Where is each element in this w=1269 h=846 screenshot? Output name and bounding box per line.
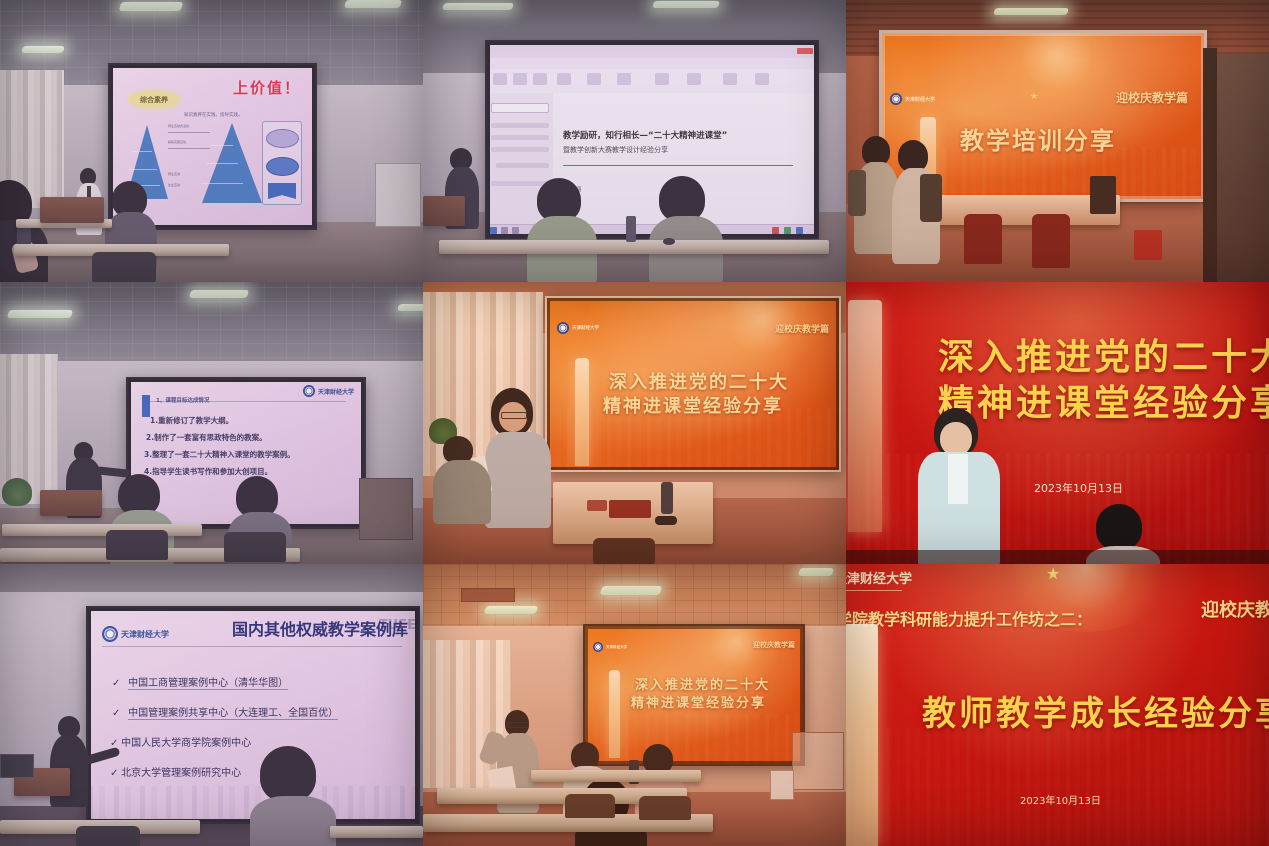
university-name: 天津财经大学: [121, 629, 169, 640]
equipment-cabinet: [1090, 176, 1116, 214]
slide-watermark: TUFE: [379, 618, 416, 633]
header-rule: [102, 646, 402, 647]
glasses-icon: [507, 722, 529, 728]
projection-screen: 天津财经大学 国内其他权威教学案例库 TUFE ✓ 中国工商管理案例中心（清华华…: [86, 606, 420, 824]
section-marker: [142, 395, 150, 417]
backpack: [848, 170, 866, 216]
backpack: [920, 174, 942, 222]
chair: [639, 796, 691, 820]
photo-collage: 上价值！ 综合素养 知识素养在实践，指导实践。 师生互动式活动 模拟实践互动 师…: [0, 0, 1269, 846]
slide-list-item: ✓ 北京大学管理案例研究中心: [110, 764, 241, 779]
front-desk: [330, 826, 423, 838]
ribbon-button[interactable]: [617, 73, 631, 85]
chair: [565, 794, 615, 818]
ceiling-lamp: [119, 2, 184, 11]
university-name: 天津财经大学: [905, 96, 935, 103]
ceiling-lamp: [484, 606, 538, 614]
banner-corner-label: 迎校庆教学篇: [753, 640, 795, 650]
taskbar-icon[interactable]: [796, 227, 803, 234]
thermos-bottle: [626, 216, 636, 242]
remote-control: [655, 516, 677, 525]
ceiling-lamp: [798, 568, 834, 576]
section-number: 1、: [156, 398, 165, 404]
photo-speaker-with-led-wall: 天津财经大学 迎校庆教学篇 深入推进党的二十大 精神进课堂经验分享: [423, 282, 846, 564]
led-display: ★ 天津财经大学 迎校庆教 经济学院教学科研能力提升工作坊之二： 教师教学成长经…: [846, 564, 1269, 846]
photo-document-presentation: 教学励研，知行相长—“二十大精神进课堂” 暨教学创新大赛教学设计经验分享 王修丽…: [423, 0, 846, 282]
university-logo: 天津财经大学: [593, 642, 627, 652]
office-chair: [1032, 214, 1070, 268]
collage-panel-top-center[interactable]: 教学励研，知行相长—“二十大精神进课堂” 暨教学创新大赛教学设计经验分享 王修丽…: [423, 0, 846, 282]
audience-desk: [2, 524, 202, 536]
banner-title-line1: 深入推进党的二十大: [609, 368, 789, 394]
collage-panel-bottom-left[interactable]: 天津财经大学 国内其他权威教学案例库 TUFE ✓ 中国工商管理案例中心（清华华…: [0, 564, 423, 846]
university-logo: 天津财经大学: [303, 385, 354, 397]
ribbon-button[interactable]: [533, 73, 547, 85]
slide-title: 上价值！: [233, 77, 301, 98]
list-item-label: 中国人民大学商学院案例中心: [121, 738, 251, 749]
ceiling-lamp: [600, 586, 663, 595]
table-edge: [846, 550, 1269, 564]
university-seal-icon: [303, 385, 315, 397]
photo-red-banner-closeup: 深入推进党的二十大 精神进课堂经验分享 2023年10月13日: [846, 282, 1269, 564]
list-item-label: 中国管理案例共享中心（大连理工、全国百优）: [128, 708, 338, 720]
university-seal-icon: [890, 93, 902, 105]
logo-rule: [846, 590, 902, 591]
decorative-starburst: [697, 296, 827, 374]
ribbon-button[interactable]: [493, 73, 507, 85]
app-tabbar: [487, 42, 817, 59]
ceiling-lamp: [442, 3, 514, 10]
collage-panel-top-left[interactable]: 上价值！ 综合素养 知识素养在实践，指导实践。 师生互动式活动 模拟实践互动 师…: [0, 0, 423, 282]
ribbon-button[interactable]: [655, 73, 669, 85]
university-seal-icon: [102, 626, 118, 642]
wall-whiteboard: [375, 163, 421, 227]
star-icon: ★: [1030, 91, 1038, 102]
banner-title-line1: 深入推进党的二十大: [938, 328, 1269, 380]
skyline-graphic: [846, 728, 1269, 846]
slide-bullet: 3.整理了一套二十大精神入课堂的教学案例。: [144, 449, 295, 460]
document-title: 教学励研，知行相长—“二十大精神进课堂”: [563, 129, 727, 141]
notebook: [609, 500, 651, 518]
taskbar-icon[interactable]: [784, 227, 791, 234]
chair: [106, 530, 168, 560]
diagram-label: 师生互动式活动: [168, 125, 189, 129]
section-title: 课程目标达成情况: [165, 398, 209, 404]
ribbon-button[interactable]: [557, 73, 571, 85]
display-cabinet: [792, 732, 844, 790]
led-display: 深入推进党的二十大 精神进课堂经验分享 2023年10月13日: [846, 282, 1269, 564]
ceiling-lamp: [397, 304, 423, 311]
decorative-starburst: [992, 30, 1122, 111]
ceiling-lamp: [7, 310, 73, 318]
torso: [250, 796, 336, 846]
chair: [76, 826, 140, 846]
ceiling-lamp: [21, 46, 65, 53]
chair: [92, 252, 156, 282]
slide-caption: 知识素养在实践，指导实践。: [184, 113, 243, 119]
banner-title-line1: 深入推进党的二十大: [635, 674, 770, 693]
photo-classroom-presentation: 上价值！ 综合素养 知识素养在实践，指导实践。 师生互动式活动 模拟实践互动 师…: [0, 0, 423, 282]
potted-plant: [2, 478, 32, 506]
star-icon: ★: [1046, 564, 1060, 584]
ribbon-toolbar[interactable]: [487, 69, 817, 93]
podium: [40, 490, 102, 516]
phone: [587, 500, 607, 511]
start-icon[interactable]: [490, 227, 497, 234]
close-icon[interactable]: [797, 48, 813, 54]
ribbon-button[interactable]: [755, 73, 769, 85]
nav-search-input[interactable]: [491, 103, 549, 113]
ribbon-button[interactable]: [587, 73, 601, 85]
photo-classroom-bullets: 天津财经大学 1、课程目标达成情况 1.重新修订了教学大纲。 2.制作了一套富有…: [0, 282, 423, 564]
display-screen: 教学励研，知行相长—“二十大精神进课堂” 暨教学创新大赛教学设计经验分享 王修丽…: [485, 40, 819, 239]
chair: [593, 538, 655, 564]
university-name: 天津财经大学: [606, 645, 627, 650]
banner-title-line2: 精神进课堂经验分享: [631, 692, 766, 711]
taskbar-icon[interactable]: [772, 227, 779, 234]
slide-bullet: 1.重新修订了教学大纲。: [150, 415, 233, 426]
skyline-graphic: [846, 454, 1269, 564]
led-display: 天津财经大学 迎校庆教学篇 深入推进党的二十大 精神进课堂经验分享: [545, 296, 841, 472]
nav-heading-item[interactable]: [491, 135, 549, 140]
ceiling-lamp: [652, 1, 720, 8]
check-icon: ✓: [110, 768, 118, 779]
document-subtitle: 暨教学创新大赛教学设计经验分享: [563, 145, 668, 155]
university-logo: 天津财经大学: [890, 93, 935, 105]
workshop-subtitle: 经济学院教学科研能力提升工作坊之二：: [846, 606, 1092, 630]
collage-panel-middle-center[interactable]: 天津财经大学 迎校庆教学篇 深入推进党的二十大 精神进课堂经验分享: [423, 282, 846, 564]
university-logo: 天津财经大学: [102, 626, 169, 642]
ceiling-lamp: [189, 290, 249, 298]
university-name: 天津财经大学: [846, 568, 912, 587]
nav-heading-item[interactable]: [491, 123, 549, 128]
ribbon-button[interactable]: [687, 73, 701, 85]
trash-bin: [1134, 230, 1162, 260]
check-icon: ✓: [112, 708, 120, 719]
diagram-label: 师生互动: [168, 173, 180, 177]
chair: [224, 532, 286, 562]
audience-desk: [439, 240, 829, 254]
head: [260, 746, 316, 802]
photo-red-workshop-banner: ★ 天津财经大学 迎校庆教 经济学院教学科研能力提升工作坊之二： 教师教学成长经…: [846, 564, 1269, 846]
nav-heading-item[interactable]: [491, 181, 549, 186]
skyline-graphic: [585, 714, 803, 764]
university-seal-icon: [593, 642, 603, 652]
face: [940, 422, 972, 456]
photo-classroom-audience-led-wall: 天津财经大学 迎校庆教学篇 深入推进党的二十大 精神进课堂经验分享: [423, 564, 846, 846]
ribbon-button[interactable]: [513, 73, 527, 85]
equipment-rack: [359, 478, 413, 540]
university-logo: 天津财经大学: [557, 322, 599, 334]
list-item-label: 北京大学管理案例研究中心: [121, 768, 241, 779]
university-logo: 天津财经大学: [846, 568, 912, 587]
banner-title-line2: 精神进课堂经验分享: [938, 374, 1269, 426]
nav-heading-item[interactable]: [496, 163, 549, 168]
university-name: 天津财经大学: [318, 387, 354, 396]
document-divider: [563, 165, 793, 166]
check-icon: ✓: [112, 678, 120, 689]
collage-panel-bottom-right[interactable]: ★ 天津财经大学 迎校庆教 经济学院教学科研能力提升工作坊之二： 教师教学成长经…: [846, 564, 1269, 846]
collage-panel-middle-right[interactable]: 深入推进党的二十大 精神进课堂经验分享 2023年10月13日: [846, 282, 1269, 564]
slide-list-item: ✓ 中国管理案例共享中心（大连理工、全国百优）: [112, 704, 338, 719]
head: [1096, 504, 1142, 550]
pyramid-band: [201, 183, 243, 184]
university-name: 天津财经大学: [572, 325, 599, 331]
collage-panel-top-right[interactable]: ★ 天津财经大学 迎校庆教学篇 教学培训分享: [846, 0, 1269, 282]
glasses-icon: [501, 412, 527, 419]
podium: [40, 197, 104, 223]
ceiling-lamp: [344, 0, 402, 8]
audience-desk: [531, 770, 701, 782]
trash-bin: [770, 770, 794, 800]
pyramid-band: [206, 163, 238, 164]
slide-bullet: 2.制作了一套富有思政特色的教案。: [146, 432, 267, 443]
pyramid-band: [211, 145, 233, 146]
inner-shirt: [948, 454, 968, 504]
ceiling-lamp: [993, 8, 1069, 15]
university-seal-icon: [557, 322, 569, 334]
led-display: 天津财经大学 迎校庆教学篇 深入推进党的二十大 精神进课堂经验分享: [583, 624, 805, 766]
mouse: [663, 238, 675, 245]
slide-list-item: ✓ 中国工商管理案例中心（清华华图）: [112, 674, 288, 689]
air-vent: [461, 588, 515, 602]
list-item-label: 中国工商管理案例中心（清华华图）: [128, 678, 288, 690]
taskbar-icon[interactable]: [512, 227, 519, 234]
door-panel: [1203, 48, 1217, 282]
ribbon-button[interactable]: [723, 73, 737, 85]
collage-panel-bottom-center[interactable]: 天津财经大学 迎校庆教学篇 深入推进党的二十大 精神进课堂经验分享: [423, 564, 846, 846]
banner-corner-label: 迎校庆教: [1201, 596, 1269, 622]
diagram-label: 模拟实践互动: [168, 141, 186, 145]
pyramid-band: [132, 151, 152, 152]
collage-panel-middle-left[interactable]: 天津财经大学 1、课程目标达成情况 1.重新修订了教学大纲。 2.制作了一套富有…: [0, 282, 423, 564]
podium: [423, 196, 465, 226]
torso: [485, 432, 551, 528]
slide-list-item: ✓ 中国人民大学商学院案例中心: [110, 734, 251, 749]
nav-heading-item[interactable]: [491, 147, 549, 152]
slide-badge: 综合素养: [128, 90, 180, 109]
banner-corner-label: 迎校庆教学篇: [775, 322, 829, 335]
section-heading: 1、课程目标达成情况: [156, 396, 209, 404]
laptop: [0, 754, 34, 778]
diagram-label: 生生互动: [168, 184, 180, 188]
taskbar-icon[interactable]: [501, 227, 508, 234]
pyramid-band: [129, 169, 157, 170]
photo-led-wall-meeting-room: ★ 天津财经大学 迎校庆教学篇 教学培训分享: [846, 0, 1269, 282]
thermos-bottle: [661, 482, 673, 514]
photo-case-library-slide: 天津财经大学 国内其他权威教学案例库 TUFE ✓ 中国工商管理案例中心（清华华…: [0, 564, 423, 846]
callout-ellipse: [266, 157, 299, 176]
torso: [433, 460, 491, 524]
callout-ellipse: [266, 129, 299, 148]
skyline-graphic: [547, 408, 839, 470]
office-chair: [964, 214, 1002, 264]
banner-corner-label: 迎校庆教学篇: [1116, 89, 1188, 106]
